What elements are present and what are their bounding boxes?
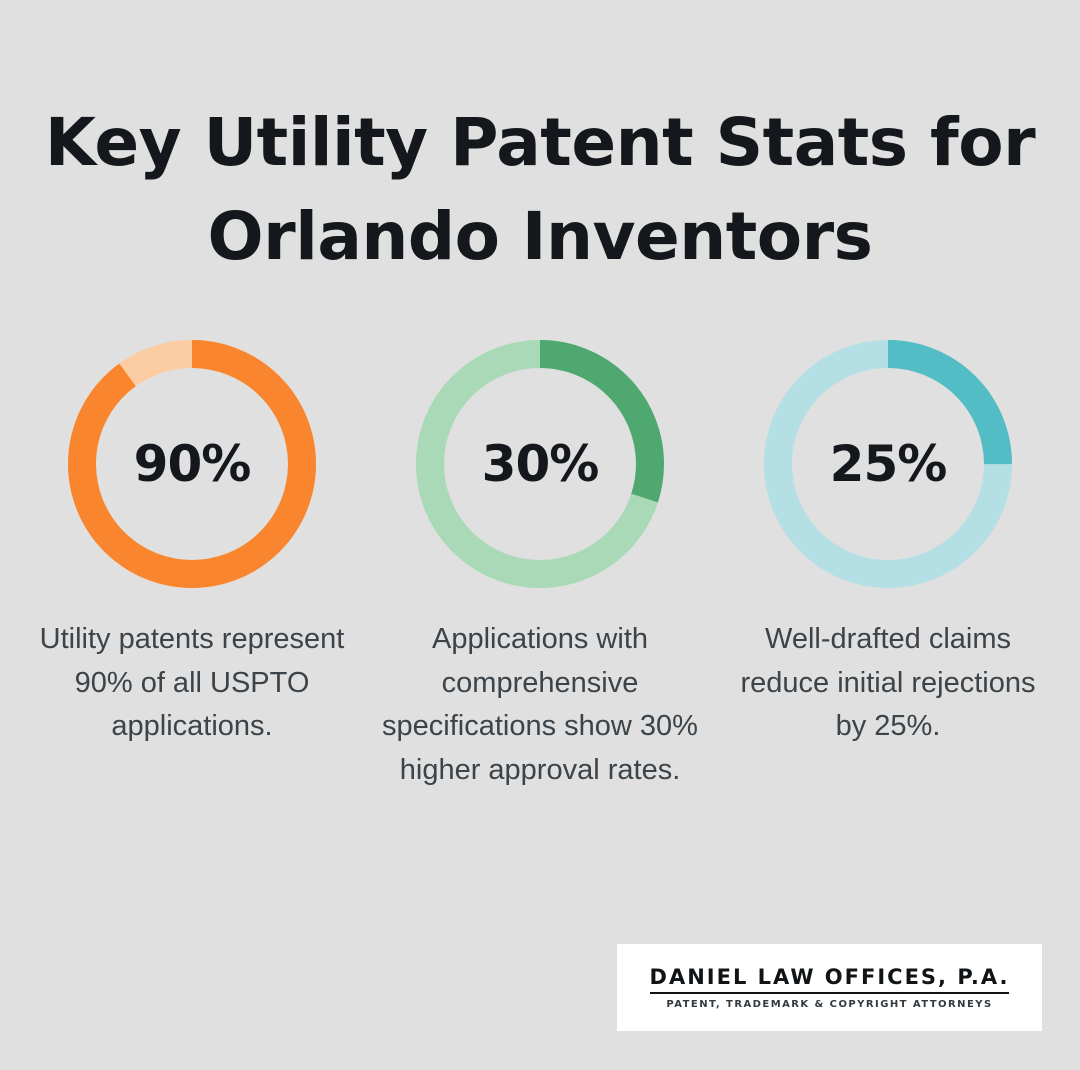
- donut-chart-3: 25%: [764, 340, 1012, 588]
- brand-logo-name: DANIEL LAW OFFICES, P.A.: [650, 965, 1010, 994]
- stat-card-2: 30% Applications with comprehensive spec…: [366, 340, 714, 792]
- infographic-canvas: Key Utility Patent Stats for Orlando Inv…: [0, 0, 1080, 1070]
- brand-logo-tagline: PATENT, TRADEMARK & COPYRIGHT ATTORNEYS: [666, 999, 992, 1010]
- stats-row: 90% Utility patents represent 90% of all…: [0, 340, 1080, 792]
- donut-2-value-label: 30%: [482, 439, 599, 489]
- stat-card-3: 25% Well-drafted claims reduce initial r…: [714, 340, 1062, 749]
- donut-1-value-label: 90%: [134, 439, 251, 489]
- donut-chart-1: 90%: [68, 340, 316, 588]
- stat-card-1: 90% Utility patents represent 90% of all…: [18, 340, 366, 749]
- stat-caption-3: Well-drafted claims reduce initial rejec…: [728, 618, 1048, 749]
- donut-chart-2: 30%: [416, 340, 664, 588]
- page-title-line-2: Orlando Inventors: [0, 190, 1080, 284]
- page-title: Key Utility Patent Stats for Orlando Inv…: [0, 96, 1080, 283]
- page-title-line-1: Key Utility Patent Stats for: [0, 96, 1080, 190]
- donut-3-value-label: 25%: [830, 439, 947, 489]
- stat-caption-1: Utility patents represent 90% of all USP…: [32, 618, 352, 749]
- stat-caption-2: Applications with comprehensive specific…: [380, 618, 700, 792]
- brand-logo: DANIEL LAW OFFICES, P.A. PATENT, TRADEMA…: [617, 944, 1042, 1031]
